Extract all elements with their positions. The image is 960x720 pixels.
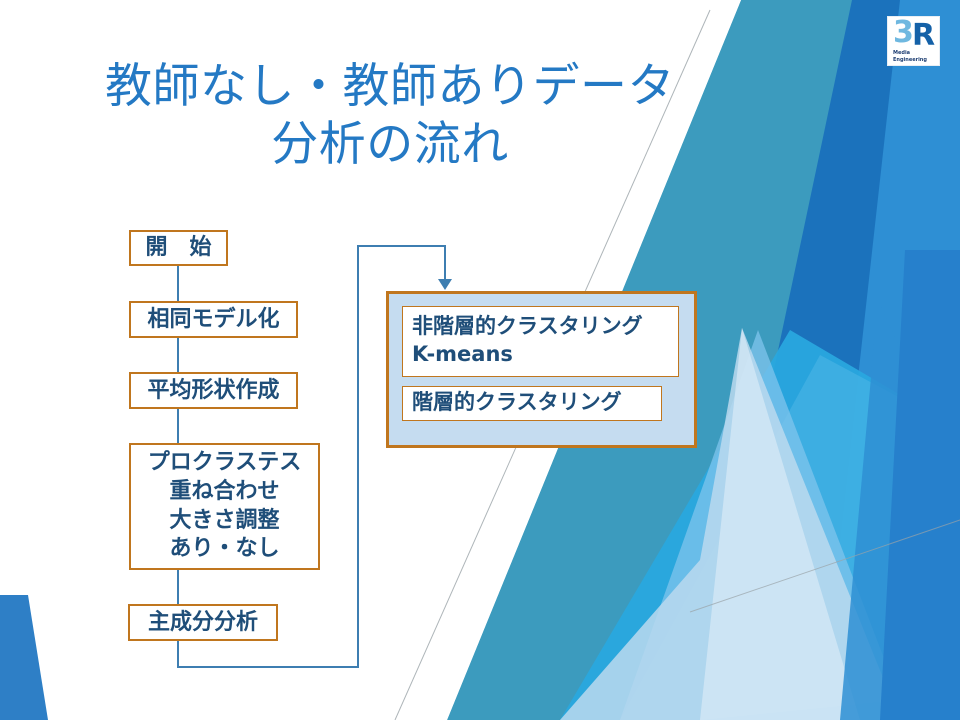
band-blue-mid — [820, 0, 960, 720]
connector-homology-to-meanshape — [177, 338, 179, 372]
connector-meanshape-to-procrustes — [177, 409, 179, 443]
flow-node-pca[interactable]: 主成分分析 — [128, 604, 278, 641]
band-pale-tri — [700, 328, 860, 720]
flow-node-meanshape[interactable]: 平均形状作成 — [129, 372, 298, 409]
connector-bottom-horizontal — [177, 666, 359, 668]
logo-subtitle: Media Engineering — [893, 50, 927, 64]
page-title: 教師なし・教師ありデータ 分析の流れ — [70, 58, 710, 175]
flow-node-procrustes[interactable]: プロクラステス 重ね合わせ 大きさ調整 あり・なし — [129, 443, 320, 570]
connector-arrow-stem — [444, 245, 446, 281]
connector-start-to-homology — [177, 266, 179, 301]
flow-node-homology[interactable]: 相同モデル化 — [129, 301, 298, 338]
hairline-diagonal-2 — [690, 520, 960, 612]
band-blue-dark — [700, 0, 960, 720]
band-bright — [880, 250, 960, 720]
arrow-head-icon — [438, 279, 452, 290]
cluster-item-hierarchical[interactable]: 階層的クラスタリング — [402, 386, 662, 421]
flow-node-start[interactable]: 開 始 — [129, 230, 228, 266]
cluster-item-kmeans[interactable]: 非階層的クラスタリング K-means — [402, 306, 679, 377]
connector-procrustes-to-pca — [177, 570, 179, 604]
slide-canvas: 教師なし・教師ありデータ 分析の流れ 開 始 相同モデル化 平均形状作成 プロク… — [0, 0, 960, 720]
wedge-left — [0, 595, 48, 720]
connector-pca-down — [177, 641, 179, 668]
logo-digit-3: 3 — [893, 18, 914, 48]
connector-top-horizontal — [357, 245, 445, 247]
band-accent-spike — [840, 300, 960, 720]
logo-3r-media-engineering: 3 R Media Engineering — [887, 16, 940, 66]
cluster-group-container: 非階層的クラスタリング K-means 階層的クラスタリング — [386, 291, 697, 448]
connector-right-vertical — [357, 245, 359, 668]
logo-letter-r: R — [912, 21, 935, 51]
